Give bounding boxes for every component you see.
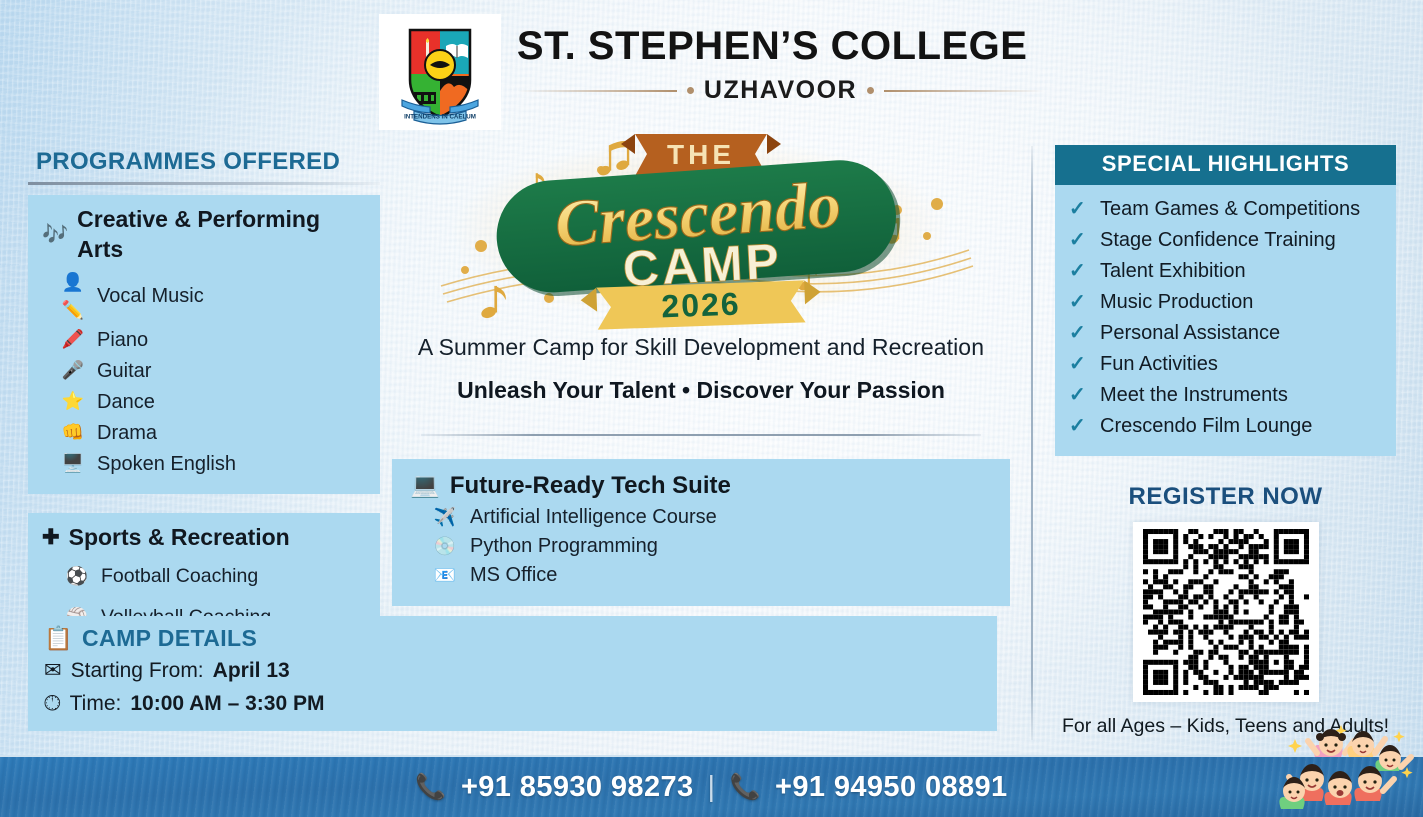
contact-footer: 📞 +91 85930 98273 | 📞 +91 94950 08891 xyxy=(0,755,1423,817)
camp-time-value: 10:00 AM – 3:30 PM xyxy=(130,690,324,718)
logo-year: 2026 xyxy=(661,286,741,325)
subtagline: Unleash Your Talent • Discover Your Pass… xyxy=(392,377,1010,404)
list-item: ✓ Meet the Instruments xyxy=(1069,380,1382,411)
list-item-label: Drama xyxy=(97,418,157,449)
column-divider xyxy=(1031,146,1033,740)
college-place: UZHAVOOR xyxy=(704,76,857,105)
plus-circle-icon: ✚︎ xyxy=(42,524,60,551)
college-titles: ST. STEPHEN’S COLLEGE UZHAVOOR xyxy=(517,14,1044,105)
sports-title: ✚︎ Sports & Recreation xyxy=(42,523,366,553)
list-item: ⭐ Dance xyxy=(42,387,366,418)
list-item: ✓ Personal Assistance xyxy=(1069,318,1382,349)
crest-motto: INTENDENS IN CAELUM xyxy=(404,114,476,121)
cd-disc-icon: 💿 xyxy=(432,533,458,559)
camp-time-row: 🕛︎ Time: 10:00 AM – 3:30 PM xyxy=(44,690,981,718)
phone-number-2[interactable]: +91 94950 08891 xyxy=(775,771,1008,804)
list-item: 📧 MS Office xyxy=(410,561,992,590)
register-now-title: REGISTER NOW xyxy=(1055,483,1396,511)
list-item-label: Talent Exhibition xyxy=(1100,256,1246,287)
list-item: 💿 Python Programming xyxy=(410,532,992,561)
list-item: 🎤 Guitar xyxy=(42,356,366,387)
center-column: THE Crescendo CAMP 2026 A xyxy=(392,118,1010,606)
creative-arts-title: 🎶 Creative & Performing Arts xyxy=(42,205,366,265)
center-divider xyxy=(421,434,981,436)
list-item: 🖥️ Spoken English xyxy=(42,449,366,480)
left-column: PROGRAMMES OFFERED 🎶 Creative & Performi… xyxy=(28,148,380,652)
camp-start-row: ✉︎ Starting From: April 13 xyxy=(44,657,981,685)
list-item: ✓ Talent Exhibition xyxy=(1069,256,1382,287)
list-item-label: Team Games & Competitions xyxy=(1100,194,1360,225)
list-item: 👊 Drama xyxy=(42,418,366,449)
list-item-label: Piano xyxy=(97,325,148,356)
college-crest-icon: INTENDENS IN CAELUM xyxy=(392,18,488,126)
poster-header: INTENDENS IN CAELUM ST. STEPHEN’S COLLEG… xyxy=(0,14,1423,130)
list-item-label: Vocal Music xyxy=(97,281,204,312)
creative-arts-panel: 🎶 Creative & Performing Arts 👤✏️ Vocal M… xyxy=(28,195,380,494)
list-item: ✈️ Artificial Intelligence Course xyxy=(410,503,992,532)
camp-time-label: Time: xyxy=(70,690,122,718)
list-item-label: Artificial Intelligence Course xyxy=(470,503,717,532)
list-item-label: Dance xyxy=(97,387,155,418)
poster-root: INTENDENS IN CAELUM ST. STEPHEN’S COLLEG… xyxy=(0,0,1423,817)
decor-dot-left xyxy=(687,87,694,94)
list-item: ✓ Stage Confidence Training xyxy=(1069,225,1382,256)
creative-arts-title-label: Creative & Performing Arts xyxy=(77,205,366,265)
fist-icon: 👊 xyxy=(60,419,86,447)
list-item-label: Fun Activities xyxy=(1100,349,1218,380)
phone-number-1[interactable]: +91 85930 98273 xyxy=(461,771,694,804)
check-icon: ✓ xyxy=(1069,349,1089,380)
check-icon: ✓ xyxy=(1069,380,1089,411)
camp-details-title: 📋 CAMP DETAILS xyxy=(44,625,981,652)
crescendo-logo: THE Crescendo CAMP 2026 xyxy=(392,118,1010,330)
list-item-label: Meet the Instruments xyxy=(1100,380,1288,411)
contact-row: 📞 +91 85930 98273 | 📞 +91 94950 08891 xyxy=(415,771,1007,804)
qr-code-container[interactable] xyxy=(1133,522,1319,702)
clipboard-icon: 📋 xyxy=(44,625,73,652)
programmes-offered-title: PROGRAMMES OFFERED xyxy=(28,148,380,176)
camp-start-label: Starting From: xyxy=(71,657,204,685)
camp-start-value: April 13 xyxy=(213,657,290,685)
list-item-label: Personal Assistance xyxy=(1100,318,1280,349)
check-icon: ✓ xyxy=(1069,225,1089,256)
list-item: ✓ Team Games & Competitions xyxy=(1069,194,1382,225)
football-icon: ⚽ xyxy=(64,558,90,596)
airplane-icon: ✈️ xyxy=(432,504,458,530)
star-icon: ⭐ xyxy=(60,388,86,416)
tagline: A Summer Camp for Skill Development and … xyxy=(392,334,1010,361)
college-name: ST. STEPHEN’S COLLEGE xyxy=(517,26,1044,66)
crescendo-camp-logo-icon: THE Crescendo CAMP 2026 xyxy=(421,118,981,330)
list-item-label: Crescendo Film Lounge xyxy=(1100,411,1312,442)
envelope-icon: ✉︎ xyxy=(44,657,62,685)
programmes-divider xyxy=(28,182,380,185)
person-pen-icon: 👤✏️ xyxy=(60,269,86,325)
decor-dot-right xyxy=(867,87,874,94)
check-icon: ✓ xyxy=(1069,411,1089,442)
phone-separator: | xyxy=(708,771,716,804)
special-highlights-list: ✓ Team Games & Competitions ✓ Stage Conf… xyxy=(1055,185,1396,456)
logo-ribbon-word: THE xyxy=(667,139,735,170)
list-item: ⚽ Football Coaching xyxy=(42,556,366,597)
clock-icon: 🕛︎ xyxy=(44,690,61,718)
list-item: 👤✏️ Vocal Music xyxy=(42,269,366,325)
decor-line-right xyxy=(884,90,1044,92)
tech-suite-title-label: Future-Ready Tech Suite xyxy=(450,472,731,500)
screen-icon: 🖥️ xyxy=(60,450,86,478)
sports-title-label: Sports & Recreation xyxy=(69,523,290,553)
decor-line-left xyxy=(517,90,677,92)
check-icon: ✓ xyxy=(1069,287,1089,318)
phone-icon: 📞 xyxy=(415,773,447,802)
crest-container: INTENDENS IN CAELUM xyxy=(379,14,501,130)
special-highlights-title: SPECIAL HIGHLIGHTS xyxy=(1055,145,1396,185)
music-note-icon: 🎶 xyxy=(42,221,68,248)
list-item: ✓ Music Production xyxy=(1069,287,1382,318)
list-item: ✓ Crescendo Film Lounge xyxy=(1069,411,1382,442)
list-item-label: Spoken English xyxy=(97,449,236,480)
list-item-label: Football Coaching xyxy=(101,556,258,597)
list-item-label: Stage Confidence Training xyxy=(1100,225,1336,256)
cheering-kids-icon xyxy=(1279,721,1419,817)
check-icon: ✓ xyxy=(1069,318,1089,349)
list-item-label: Python Programming xyxy=(470,532,658,561)
envelope-icon: 📧 xyxy=(432,562,458,588)
tech-suite-title: 💻 Future-Ready Tech Suite xyxy=(410,471,992,500)
tech-suite-panel: 💻 Future-Ready Tech Suite ✈️ Artificial … xyxy=(392,459,1010,606)
pencils-icon: 🖍️ xyxy=(60,326,86,354)
list-item-label: Guitar xyxy=(97,356,151,387)
camp-details-panel: 📋 CAMP DETAILS ✉︎ Starting From: April 1… xyxy=(28,616,997,731)
phone-icon: 📞 xyxy=(729,773,761,802)
college-place-row: UZHAVOOR xyxy=(517,76,1044,105)
check-icon: ✓ xyxy=(1069,194,1089,225)
right-column: SPECIAL HIGHLIGHTS ✓ Team Games & Compet… xyxy=(1055,145,1396,738)
laptop-icon: 💻 xyxy=(410,471,440,500)
qr-code-icon[interactable] xyxy=(1143,529,1309,695)
list-item-label: MS Office xyxy=(470,561,557,590)
list-item: 🖍️ Piano xyxy=(42,325,366,356)
camp-details-title-label: CAMP DETAILS xyxy=(82,625,257,652)
check-icon: ✓ xyxy=(1069,256,1089,287)
list-item-label: Music Production xyxy=(1100,287,1253,318)
hand-microphone-icon: 🎤 xyxy=(60,357,86,385)
list-item: ✓ Fun Activities xyxy=(1069,349,1382,380)
